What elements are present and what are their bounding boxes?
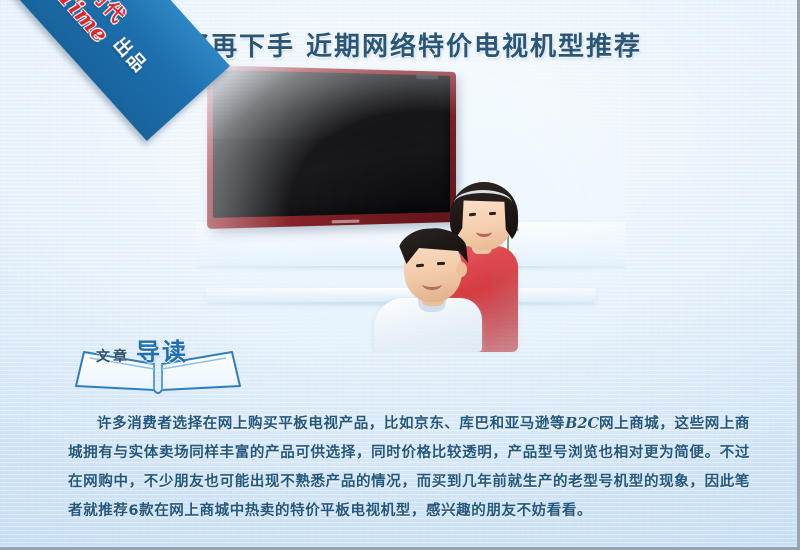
guide-label-big: 导读 xyxy=(136,340,188,364)
hero-photo xyxy=(196,62,626,352)
article-banner-page: 投影时代 PjTime 出品 看好再下手 近期网络特价电视机型推荐 xyxy=(0,0,800,550)
guide-labels: 文章 导读 xyxy=(96,340,188,364)
person-man xyxy=(374,224,496,352)
ribbon-suffix: 出品 xyxy=(108,31,154,78)
tv-sensor xyxy=(416,74,438,80)
article-lede: 许多消费者选择在网上购买平板电视产品，比如京东、库巴和亚马逊等B2C网上商城，这… xyxy=(68,409,750,526)
man-ear xyxy=(456,262,467,277)
tv-screen-glare xyxy=(213,70,450,139)
lede-b2c: B2C xyxy=(565,415,599,432)
man-eye xyxy=(437,262,445,265)
article-guide-header: 文章 导读 xyxy=(68,334,248,394)
guide-label-small: 文章 xyxy=(96,350,130,364)
people-group xyxy=(374,180,564,352)
tv-logo xyxy=(332,220,360,224)
man-mouth xyxy=(422,278,442,290)
girl-eye xyxy=(489,212,496,215)
lede-part1: 许多消费者选择在网上购买平板电视产品，比如京东、库巴和亚马逊等 xyxy=(97,416,565,432)
